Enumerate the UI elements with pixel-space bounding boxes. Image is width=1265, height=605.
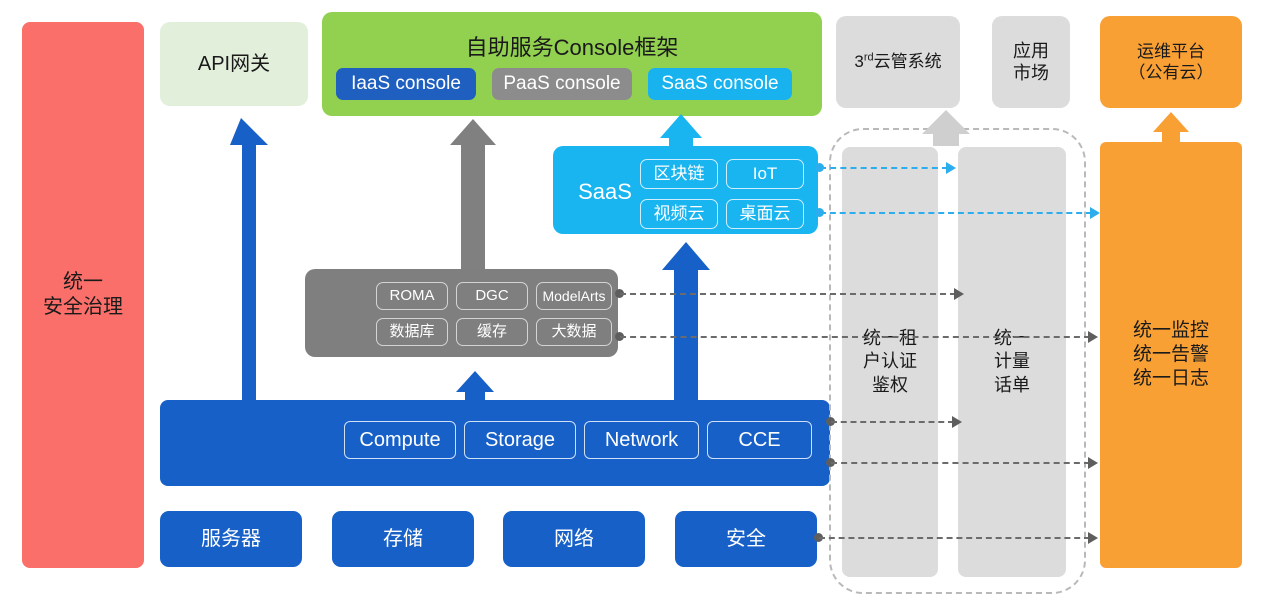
connector-paas-to-ops — [620, 336, 1090, 338]
arrowhead-hardware-to-ops — [1088, 532, 1098, 544]
connector-hardware-to-ops — [819, 537, 1090, 539]
connector-iaas-to-ops — [831, 462, 1090, 464]
architecture-diagram: 统一 安全治理 API网关 自助服务Console框架 IaaS console… — [0, 0, 1265, 605]
solid-arrows-layer — [0, 0, 1265, 605]
connector-saas-to-ops — [820, 212, 1092, 214]
arrow-iaas-to-api-gateway — [230, 118, 268, 400]
arrowhead-saas-to-ops — [1090, 207, 1100, 219]
arrow-iaas-to-saas — [662, 242, 710, 400]
arrowhead-iaas-to-ops — [1088, 457, 1098, 469]
connector-iaas-to-auth — [831, 421, 954, 423]
arrow-iaas-to-paas — [456, 371, 494, 400]
arrow-ops-body-to-head — [1153, 112, 1189, 142]
arrowhead-iaas-to-auth — [952, 416, 962, 428]
arrowhead-saas-to-auth — [946, 162, 956, 174]
arrow-paas-to-console — [450, 119, 496, 270]
arrow-shared-to-third-party — [922, 110, 970, 146]
arrowhead-paas-to-ops — [1088, 331, 1098, 343]
connector-saas-to-auth — [820, 167, 948, 169]
connector-paas-to-billing — [620, 293, 956, 295]
arrowhead-paas-to-billing — [954, 288, 964, 300]
arrow-saas-to-console — [660, 114, 702, 148]
